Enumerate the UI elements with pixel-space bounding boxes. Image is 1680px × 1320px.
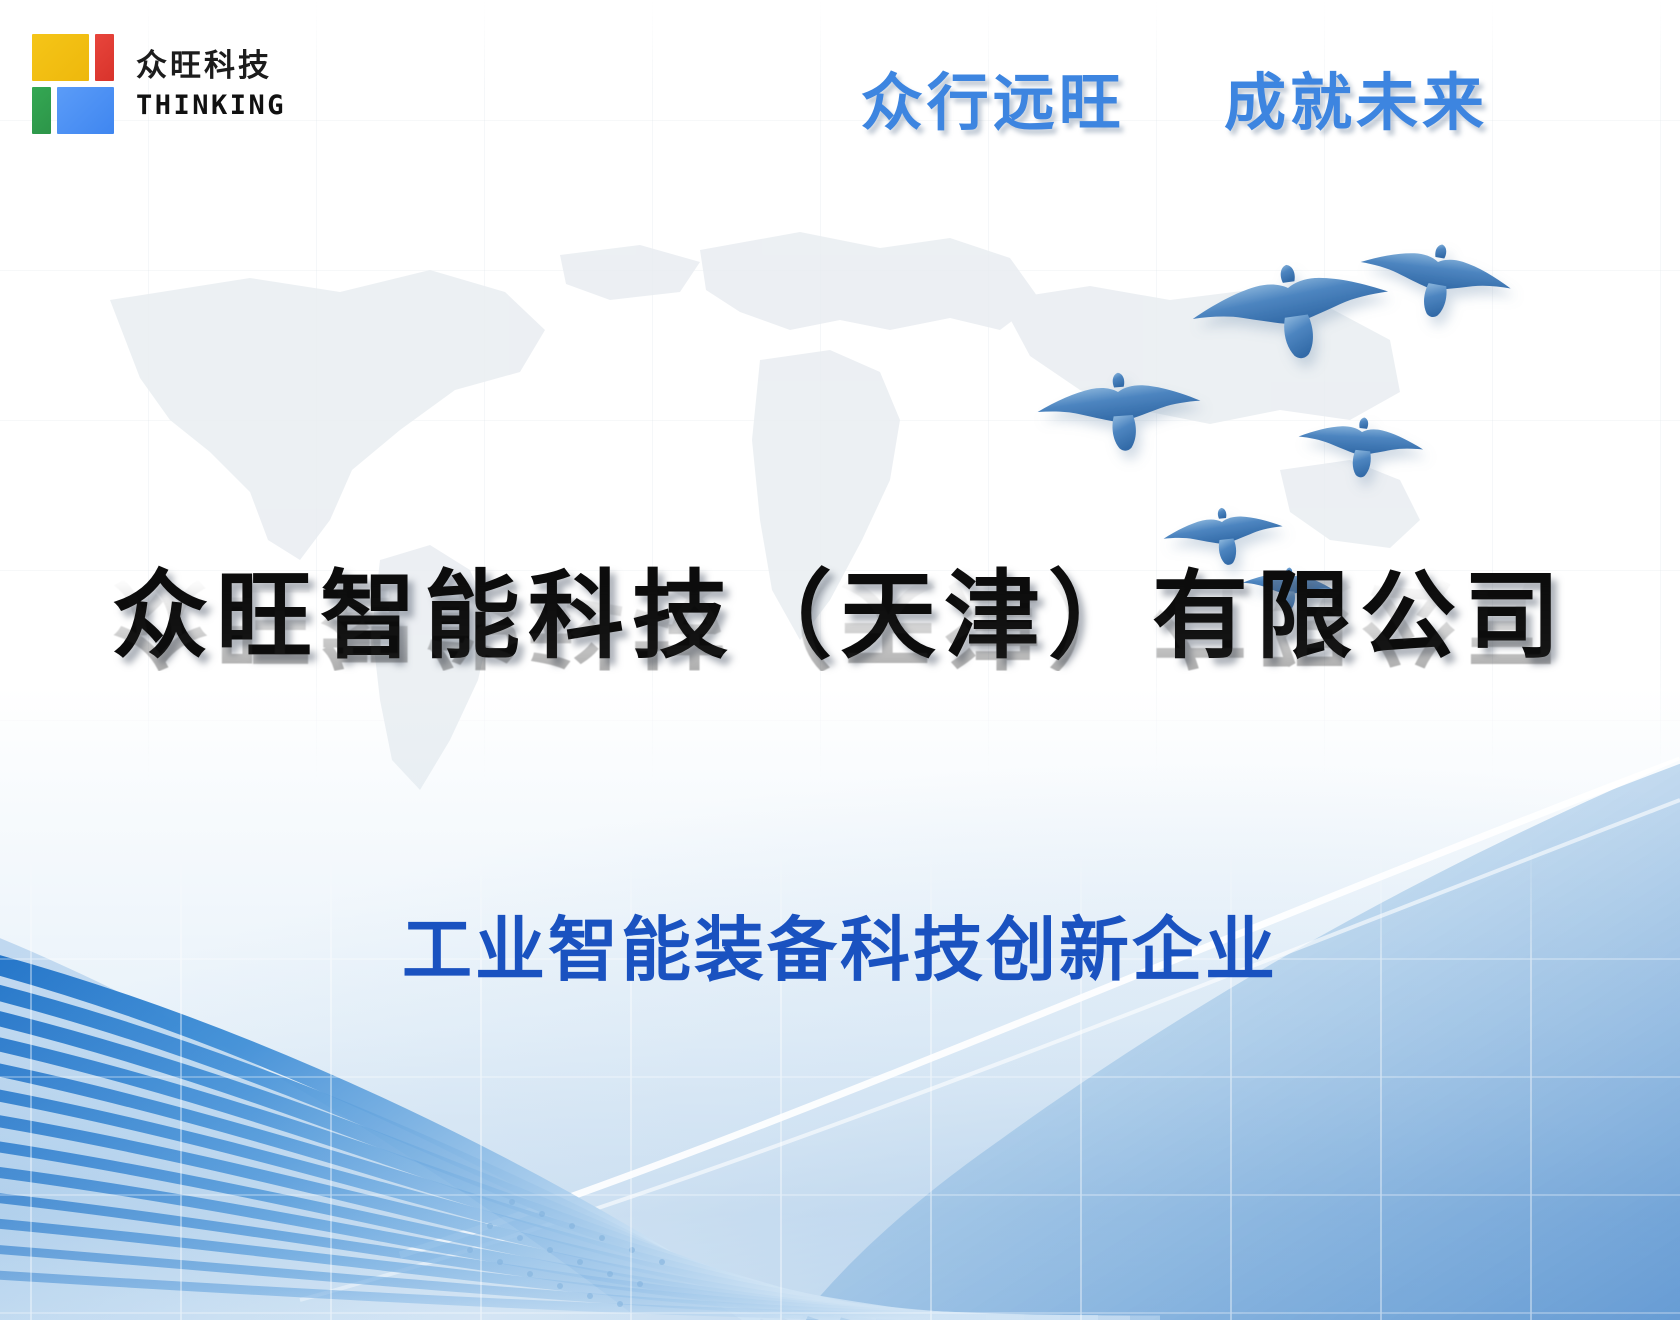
logo-block-red (95, 34, 114, 81)
company-logo: 众旺科技 THINKING (32, 34, 286, 138)
right-ribbon (800, 760, 1680, 1320)
presentation-slide: 众旺科技 THINKING 众行远旺 成就未来 众旺智能科技（天津）有限公司 众… (0, 0, 1680, 1320)
company-title-reflection: 众旺智能科技（天津）有限公司 (0, 570, 1680, 671)
title-block: 众旺智能科技（天津）有限公司 众旺智能科技（天津）有限公司 (0, 566, 1680, 772)
header-slogan: 众行远旺 成就未来 (861, 52, 1488, 142)
logo-wordmark: 众旺科技 THINKING (136, 49, 286, 122)
logo-block-yellow (32, 34, 89, 81)
slogan-part-2: 成就未来 (1224, 66, 1488, 139)
logo-blocks-icon (32, 34, 114, 138)
slide-header: 众旺科技 THINKING 众行远旺 成就未来 (0, 0, 1680, 190)
logo-chinese-name: 众旺科技 (136, 49, 286, 84)
logo-english-name: THINKING (136, 90, 286, 122)
company-subtitle: 工业智能装备科技创新企业 (0, 894, 1680, 995)
logo-block-blue (57, 87, 114, 134)
slogan-part-1: 众行远旺 (861, 66, 1125, 139)
logo-block-green (32, 87, 51, 134)
